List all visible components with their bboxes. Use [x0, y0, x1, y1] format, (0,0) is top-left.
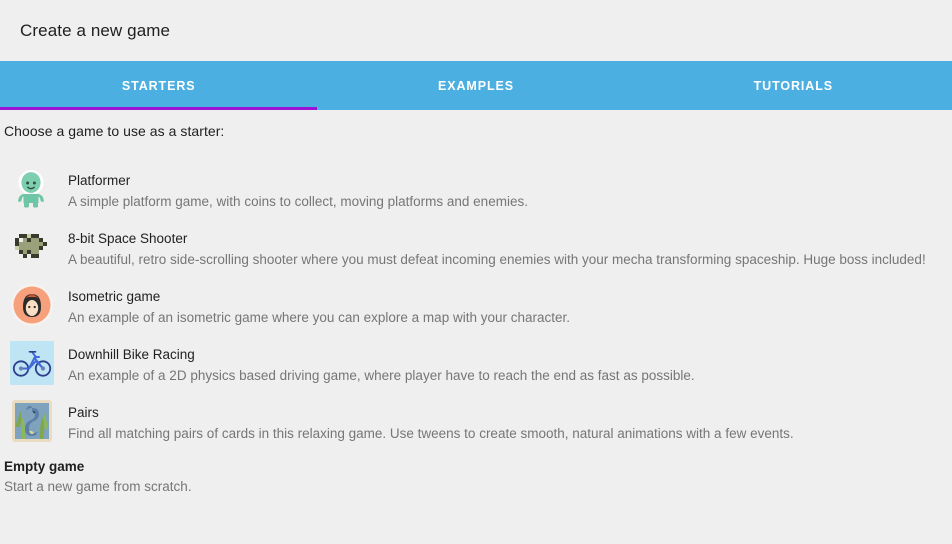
- empty-game-item[interactable]: Empty game Start a new game from scratch…: [0, 457, 952, 497]
- seahorse-card-icon: [10, 399, 54, 443]
- list-item-text: Isometric game An example of an isometri…: [68, 283, 570, 328]
- list-item-title: 8-bit Space Shooter: [68, 229, 926, 248]
- list-item[interactable]: 8-bit Space Shooter A beautiful, retro s…: [0, 225, 952, 270]
- list-item-title: Isometric game: [68, 287, 570, 306]
- tab-tutorials-label: TUTORIALS: [754, 79, 833, 93]
- starters-panel: Choose a game to use as a starter:: [0, 110, 952, 497]
- list-item[interactable]: Downhill Bike Racing An example of a 2D …: [0, 341, 952, 386]
- list-item-title: Pairs: [68, 403, 794, 422]
- tab-bar: STARTERS EXAMPLES TUTORIALS: [0, 61, 952, 110]
- list-item-description: An example of an isometric game where yo…: [68, 308, 570, 328]
- active-tab-indicator: [0, 107, 317, 110]
- list-item[interactable]: Platformer A simple platform game, with …: [0, 167, 952, 212]
- tab-starters[interactable]: STARTERS: [0, 61, 317, 110]
- tab-examples[interactable]: EXAMPLES: [317, 61, 634, 110]
- tab-starters-label: STARTERS: [122, 79, 196, 93]
- list-item-description: Find all matching pairs of cards in this…: [68, 424, 794, 444]
- space-shooter-mecha-icon: [10, 225, 54, 269]
- list-item-description: A simple platform game, with coins to co…: [68, 192, 528, 212]
- isometric-avatar-icon: [10, 283, 54, 327]
- list-item-text: Pairs Find all matching pairs of cards i…: [68, 399, 794, 444]
- starter-list: Platformer A simple platform game, with …: [0, 167, 952, 444]
- platformer-character-icon: [10, 167, 54, 211]
- list-item-text: 8-bit Space Shooter A beautiful, retro s…: [68, 225, 926, 270]
- tab-tutorials[interactable]: TUTORIALS: [635, 61, 952, 110]
- list-item[interactable]: Isometric game An example of an isometri…: [0, 283, 952, 328]
- choose-starter-label: Choose a game to use as a starter:: [0, 110, 952, 139]
- empty-game-description: Start a new game from scratch.: [4, 477, 952, 497]
- list-item-text: Platformer A simple platform game, with …: [68, 167, 528, 212]
- list-item-text: Downhill Bike Racing An example of a 2D …: [68, 341, 695, 386]
- list-item[interactable]: Pairs Find all matching pairs of cards i…: [0, 399, 952, 444]
- page-title: Create a new game: [20, 21, 170, 41]
- dialog-header: Create a new game: [0, 0, 952, 61]
- list-item-title: Downhill Bike Racing: [68, 345, 695, 364]
- list-item-description: A beautiful, retro side-scrolling shoote…: [68, 250, 926, 270]
- tab-examples-label: EXAMPLES: [438, 79, 514, 93]
- list-item-title: Platformer: [68, 171, 528, 190]
- list-item-description: An example of a 2D physics based driving…: [68, 366, 695, 386]
- empty-game-title: Empty game: [4, 457, 952, 477]
- bicycle-icon: [10, 341, 54, 385]
